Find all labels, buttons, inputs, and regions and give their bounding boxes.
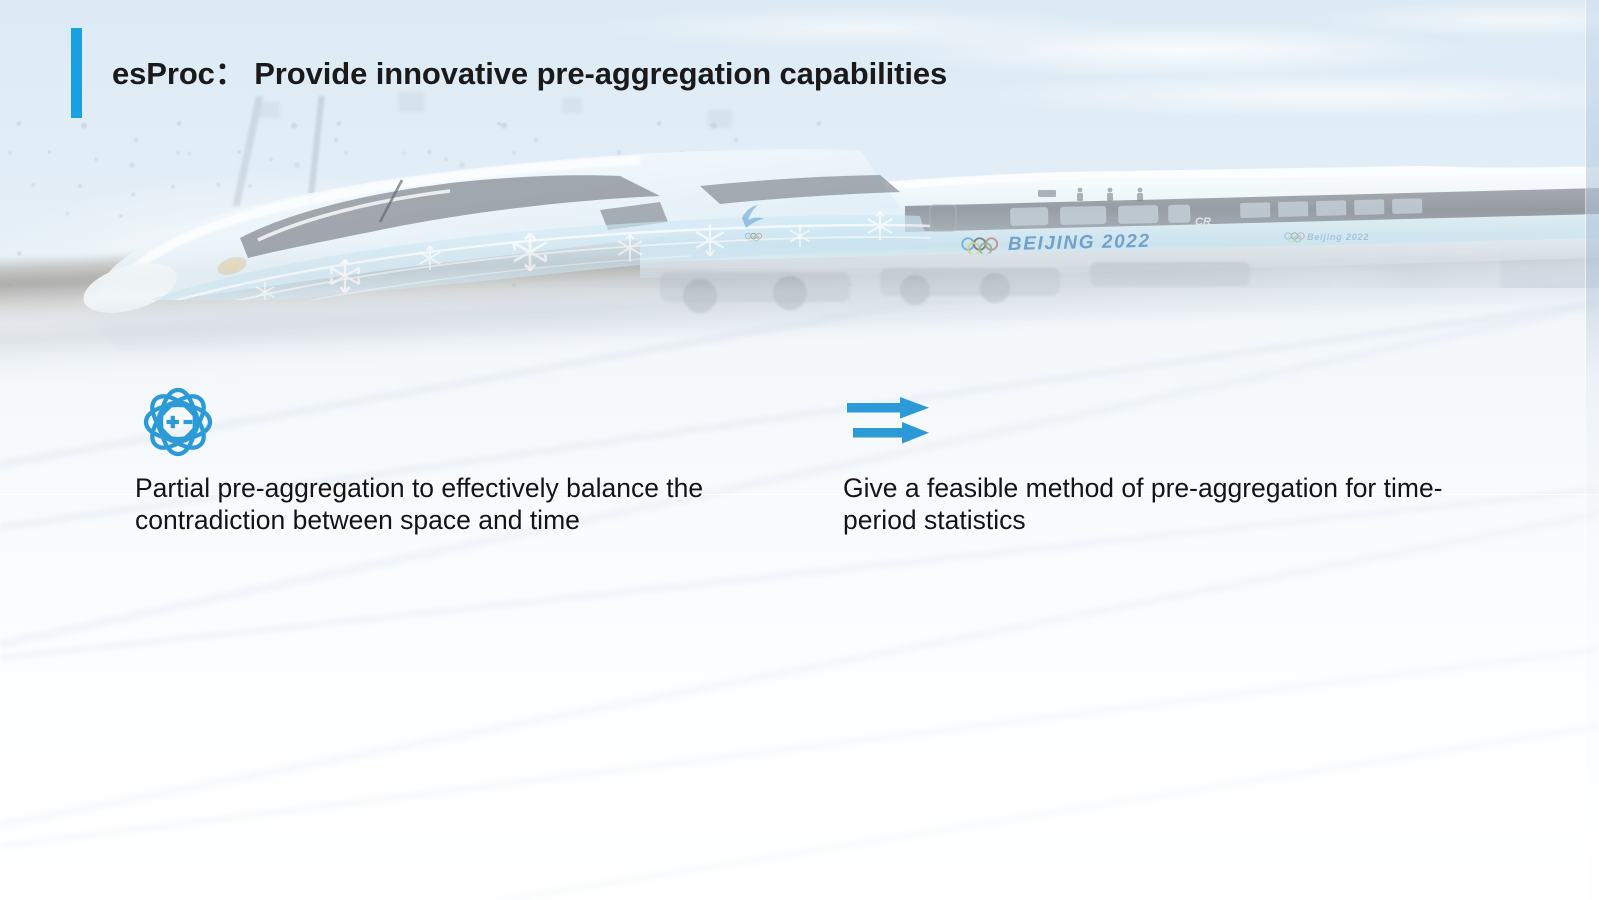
title-accent-bar: [71, 28, 82, 118]
feature-item-1: Partial pre-aggregation to effectively b…: [135, 380, 795, 537]
feature-text-1: Partial pre-aggregation to effectively b…: [135, 472, 720, 537]
double-right-arrow-icon: [843, 380, 1503, 464]
slide-canvas: CR BEIJING 2022 Be: [0, 0, 1599, 900]
page-title: esProc： Provide innovative pre-aggregati…: [112, 48, 947, 93]
atom-plus-minus-icon: [135, 380, 795, 464]
feature-item-2: Give a feasible method of pre-aggregatio…: [843, 380, 1503, 537]
feature-text-2: Give a feasible method of pre-aggregatio…: [843, 472, 1505, 537]
slide-content: esProc： Provide innovative pre-aggregati…: [0, 0, 1599, 900]
